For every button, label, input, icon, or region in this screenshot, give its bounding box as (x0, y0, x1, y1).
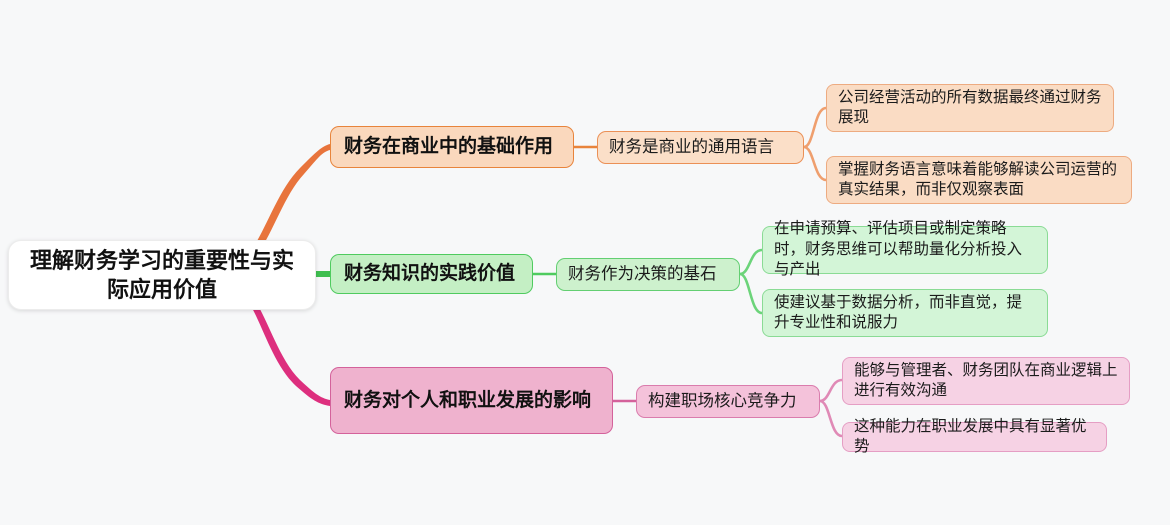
sub-node-core-competitiveness[interactable]: 构建职场核心竞争力 (636, 385, 820, 418)
branch-node-label: 财务对个人和职业发展的影响 (344, 388, 591, 413)
sub-node-finance-common-language[interactable]: 财务是商业的通用语言 (597, 131, 804, 164)
edge-sub-orange-to-leaf-1 (804, 108, 826, 147)
edge-sub-orange-to-leaf-2 (804, 147, 826, 180)
mindmap-canvas: 理解财务学习的重要性与实际应用价值 财务在商业中的基础作用 财务是商业的通用语言… (0, 0, 1170, 525)
branch-node-practical-value[interactable]: 财务知识的实践价值 (330, 254, 533, 294)
leaf-node-all-data-through-finance[interactable]: 公司经营活动的所有数据最终通过财务展现 (826, 84, 1114, 132)
edge-sub-pink-to-leaf-2 (820, 401, 842, 436)
leaf-node-interpret-real-results[interactable]: 掌握财务语言意味着能够解读公司运营的真实结果，而非仅观察表面 (826, 156, 1132, 204)
leaf-node-label: 能够与管理者、财务团队在商业逻辑上进行有效沟通 (854, 361, 1118, 402)
branch-node-label: 财务知识的实践价值 (344, 261, 515, 286)
leaf-node-data-driven-advice[interactable]: 使建议基于数据分析，而非直觉，提升专业性和说服力 (762, 289, 1048, 337)
leaf-node-significant-career-advantage[interactable]: 这种能力在职业发展中具有显著优势 (842, 422, 1107, 452)
branch-node-career-impact[interactable]: 财务对个人和职业发展的影响 (330, 367, 613, 434)
sub-node-label: 财务作为决策的基石 (568, 264, 717, 286)
leaf-node-label: 这种能力在职业发展中具有显著优势 (854, 417, 1095, 458)
leaf-node-label: 使建议基于数据分析，而非直觉，提升专业性和说服力 (774, 293, 1036, 334)
leaf-node-label: 在申请预算、评估项目或制定策略时，财务思维可以帮助量化分析投入与产出 (774, 219, 1036, 280)
root-node[interactable]: 理解财务学习的重要性与实际应用价值 (8, 240, 316, 310)
edge-sub-pink-to-leaf-1 (820, 380, 842, 401)
branch-node-finance-foundation[interactable]: 财务在商业中的基础作用 (330, 126, 574, 168)
leaf-node-label: 公司经营活动的所有数据最终通过财务展现 (838, 88, 1102, 129)
leaf-node-communicate-with-management[interactable]: 能够与管理者、财务团队在商业逻辑上进行有效沟通 (842, 357, 1130, 405)
leaf-node-quantify-input-output[interactable]: 在申请预算、评估项目或制定策略时，财务思维可以帮助量化分析投入与产出 (762, 226, 1048, 274)
root-node-label: 理解财务学习的重要性与实际应用价值 (23, 246, 301, 304)
edge-sub-green-to-leaf-2 (740, 274, 762, 313)
sub-node-label: 财务是商业的通用语言 (609, 137, 774, 159)
sub-node-cornerstone-of-decisions[interactable]: 财务作为决策的基石 (556, 258, 740, 291)
sub-node-label: 构建职场核心竞争力 (648, 391, 797, 413)
leaf-node-label: 掌握财务语言意味着能够解读公司运营的真实结果，而非仅观察表面 (838, 160, 1120, 201)
edge-sub-green-to-leaf-1 (740, 250, 762, 274)
branch-node-label: 财务在商业中的基础作用 (344, 134, 553, 159)
